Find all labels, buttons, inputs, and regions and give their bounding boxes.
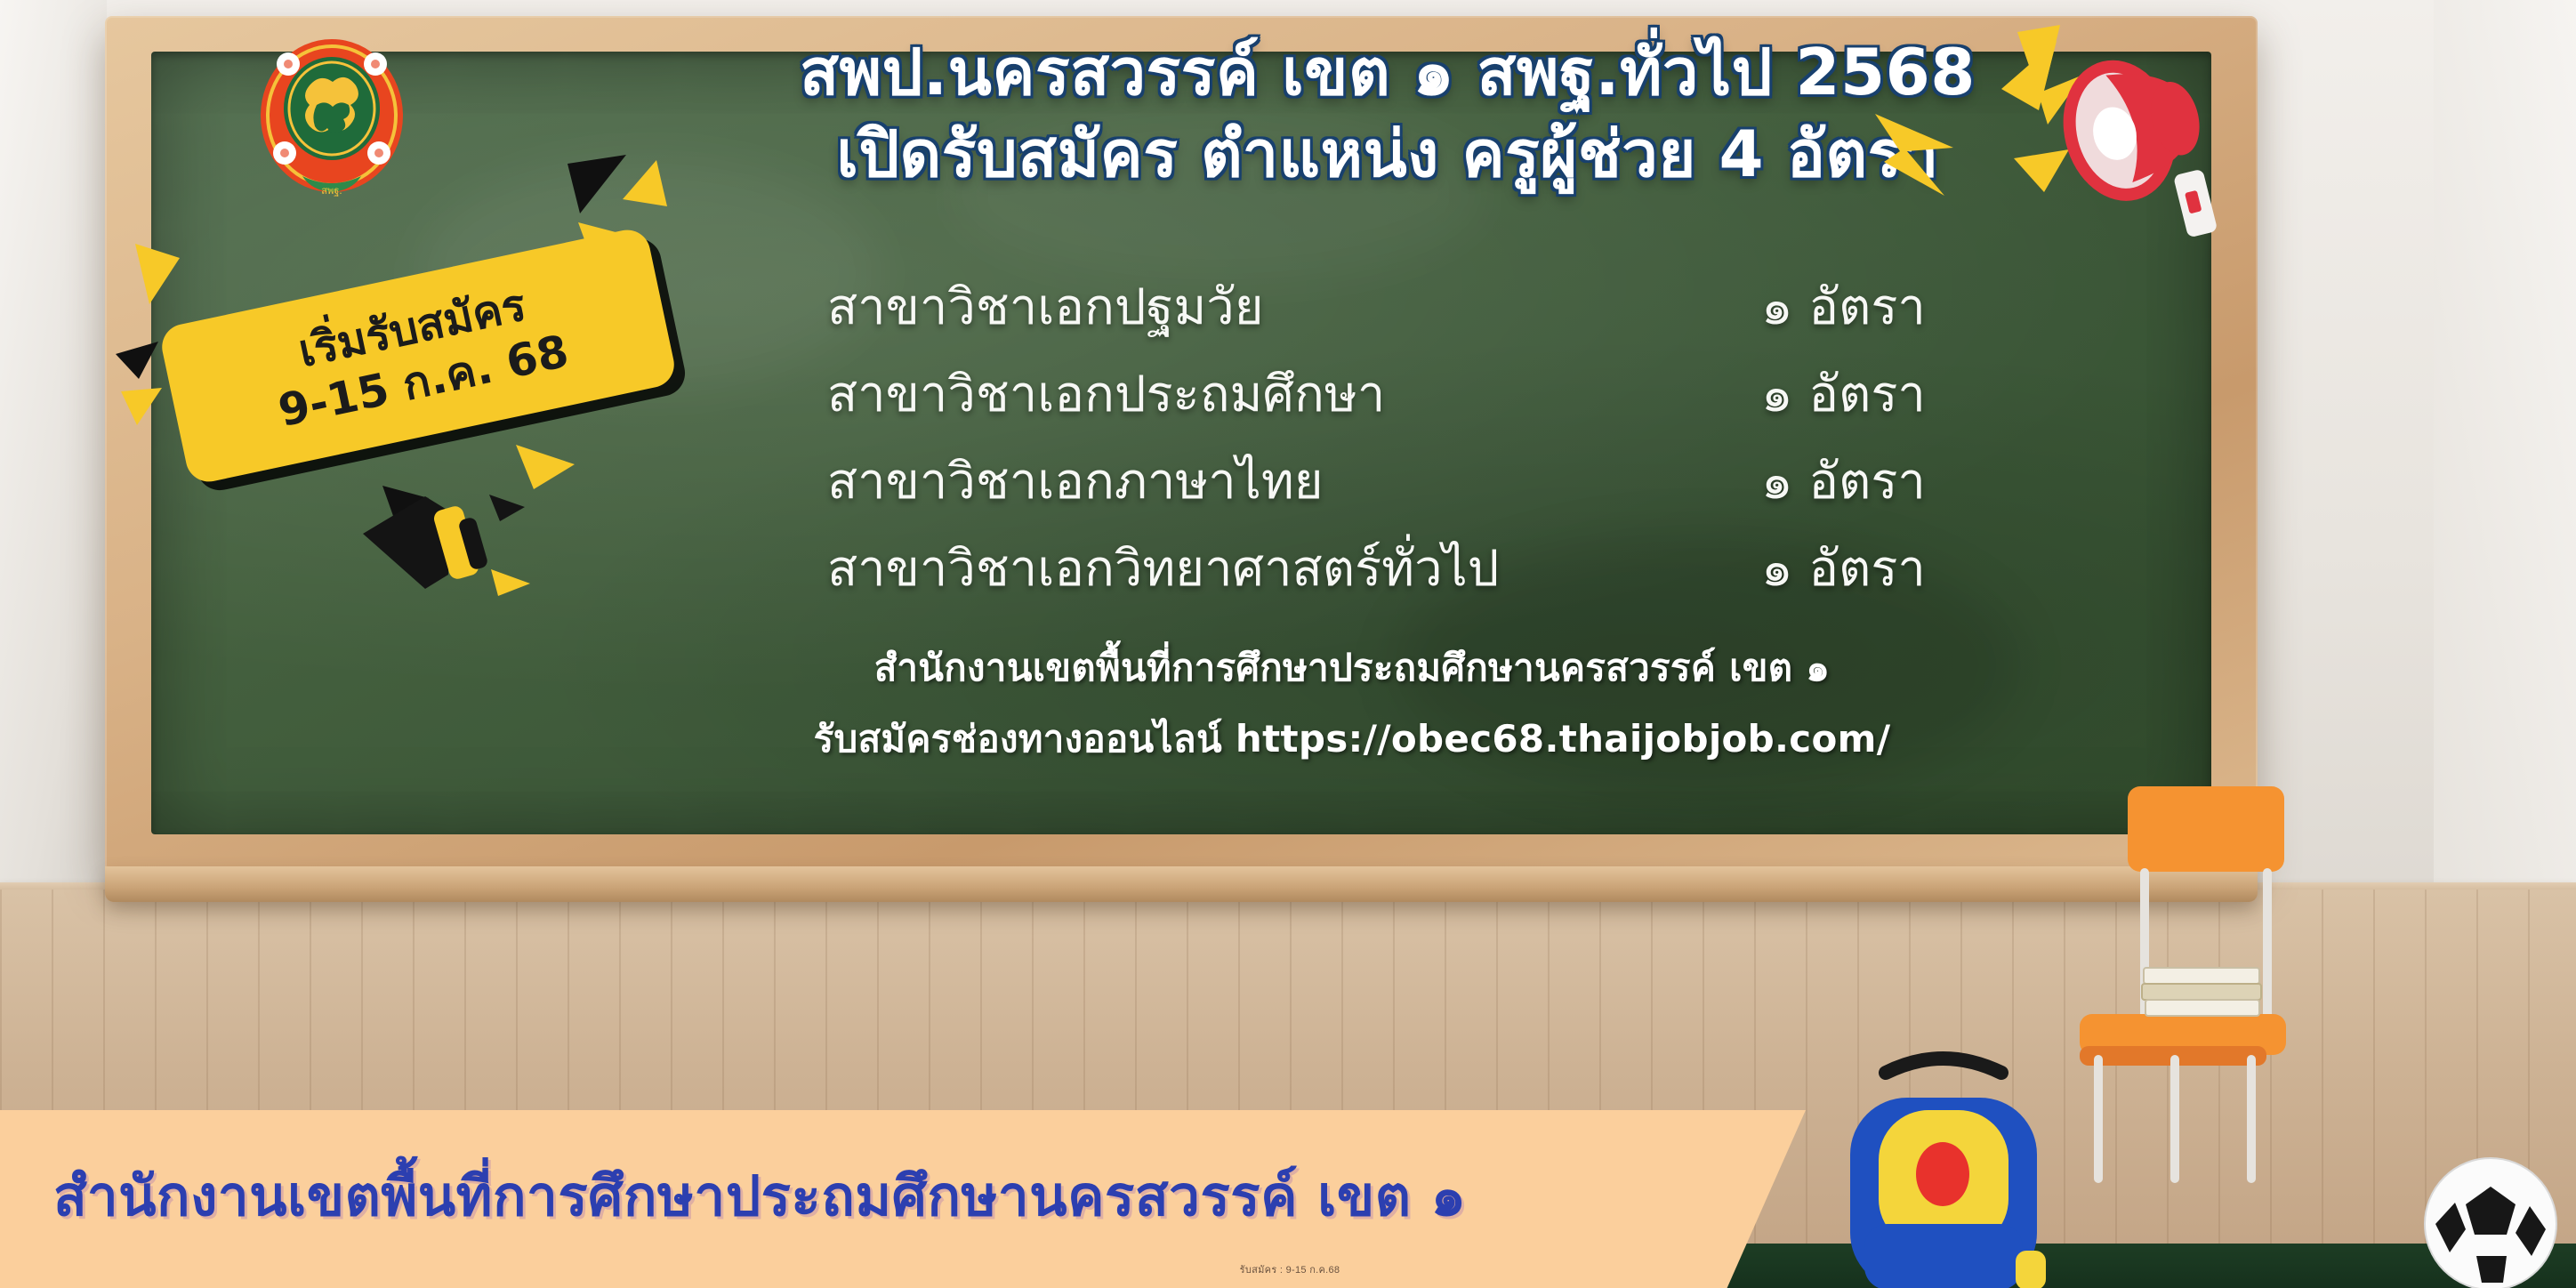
poster-canvas: สพฐ. สพป.นครสวรรค์ เขต ๑ สพฐ.ทั่วไป 2568… <box>0 0 2576 1288</box>
office-name: สำนักงานเขตพื้นที่การศึกษาประถมศึกษานครส… <box>587 639 2117 697</box>
subject-row: สาขาวิชาเอกประถมศึกษา ๑ อัตรา <box>827 370 1948 420</box>
subject-count: ๑ อัตรา <box>1761 457 1948 507</box>
yellow-arrow-decor <box>1859 96 1975 212</box>
subject-row: สาขาวิชาเอกภาษาไทย ๑ อัตรา <box>827 457 1948 507</box>
soccer-ball-icon <box>2419 1147 2562 1288</box>
subject-count: ๑ อัตรา <box>1761 283 1948 333</box>
subject-row: สาขาวิชาเอกปฐมวัย ๑ อัตรา <box>827 283 1948 333</box>
svg-text:สพฐ.: สพฐ. <box>321 185 342 197</box>
application-url-line[interactable]: รับสมัครช่องทางออนไลน์ https://obec68.th… <box>587 710 2117 769</box>
subject-count: ๑ อัตรา <box>1761 544 1948 594</box>
backpack-icon <box>1832 1041 2055 1288</box>
subject-name: สาขาวิชาเอกประถมศึกษา <box>827 370 1385 420</box>
school-chair-icon <box>2037 783 2330 1183</box>
fine-print: รับสมัคร : 9-15 ก.ค.68 <box>1147 1261 1432 1277</box>
subject-name: สาขาวิชาเอกภาษาไทย <box>827 457 1324 507</box>
wall-right-panel <box>2434 0 2576 898</box>
book-stack-icon <box>2142 968 2261 1016</box>
board-footer: สำนักงานเขตพื้นที่การศึกษาประถมศึกษานครส… <box>587 639 2117 769</box>
subject-count: ๑ อัตรา <box>1761 370 1948 420</box>
subject-name: สาขาวิชาเอกวิทยาศาสตร์ทั่วไป <box>827 544 1499 594</box>
subject-row: สาขาวิชาเอกวิทยาศาสตร์ทั่วไป ๑ อัตรา <box>827 544 1948 594</box>
subject-list: สาขาวิชาเอกปฐมวัย ๑ อัตรา สาขาวิชาเอกประ… <box>827 283 1948 632</box>
obec-garuda-emblem: สพฐ. <box>249 20 415 212</box>
wall-left-panel <box>0 0 107 916</box>
megaphone-icon <box>2001 18 2286 249</box>
bottom-banner-text: สำนักงานเขตพื้นที่การศึกษาประถมศึกษานครส… <box>53 1153 1654 1240</box>
megaphone-icon-small <box>356 471 551 614</box>
subject-name: สาขาวิชาเอกปฐมวัย <box>827 283 1264 333</box>
